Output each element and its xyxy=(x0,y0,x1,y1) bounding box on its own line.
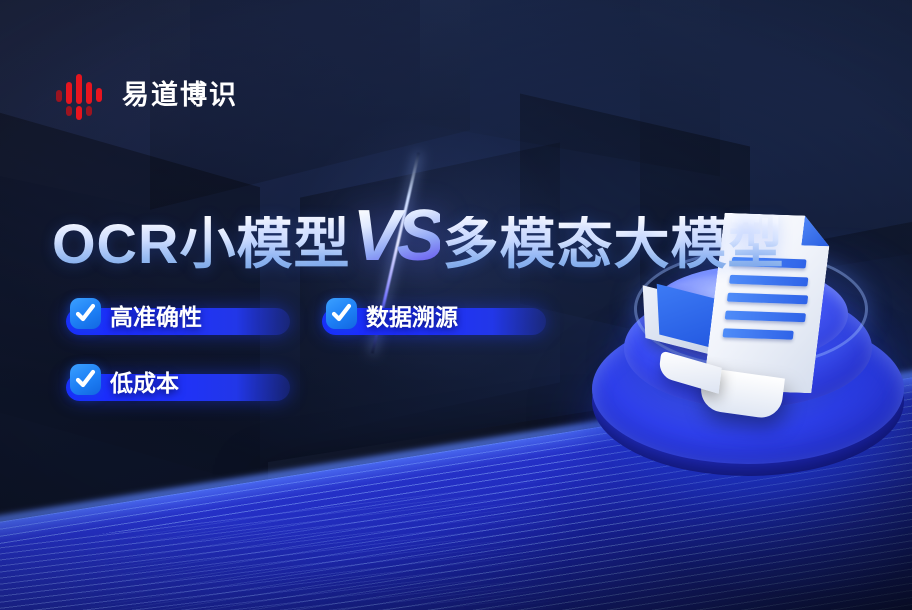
brand-logo[interactable]: 易道博识 xyxy=(56,70,238,120)
headline-right: 多模态大模型 xyxy=(442,216,784,272)
check-icon xyxy=(326,298,357,329)
check-icon xyxy=(70,298,101,329)
feature-label-1: 高准确性 xyxy=(110,306,202,329)
document-folded-corner xyxy=(801,216,833,247)
headline-left: OCR小模型 xyxy=(52,216,350,272)
vs-badge: VS xyxy=(352,196,440,292)
feature-label-2: 数据溯源 xyxy=(366,306,458,329)
feature-label-3: 低成本 xyxy=(110,372,179,395)
waveform-logo-icon xyxy=(56,70,108,120)
banner-canvas: REPORT xyxy=(0,0,912,610)
headline: OCR小模型 VS 多模态大模型 xyxy=(52,196,784,292)
brand-name: 易道博识 xyxy=(122,82,238,109)
check-icon xyxy=(70,364,101,395)
vs-label: VS xyxy=(352,200,440,272)
